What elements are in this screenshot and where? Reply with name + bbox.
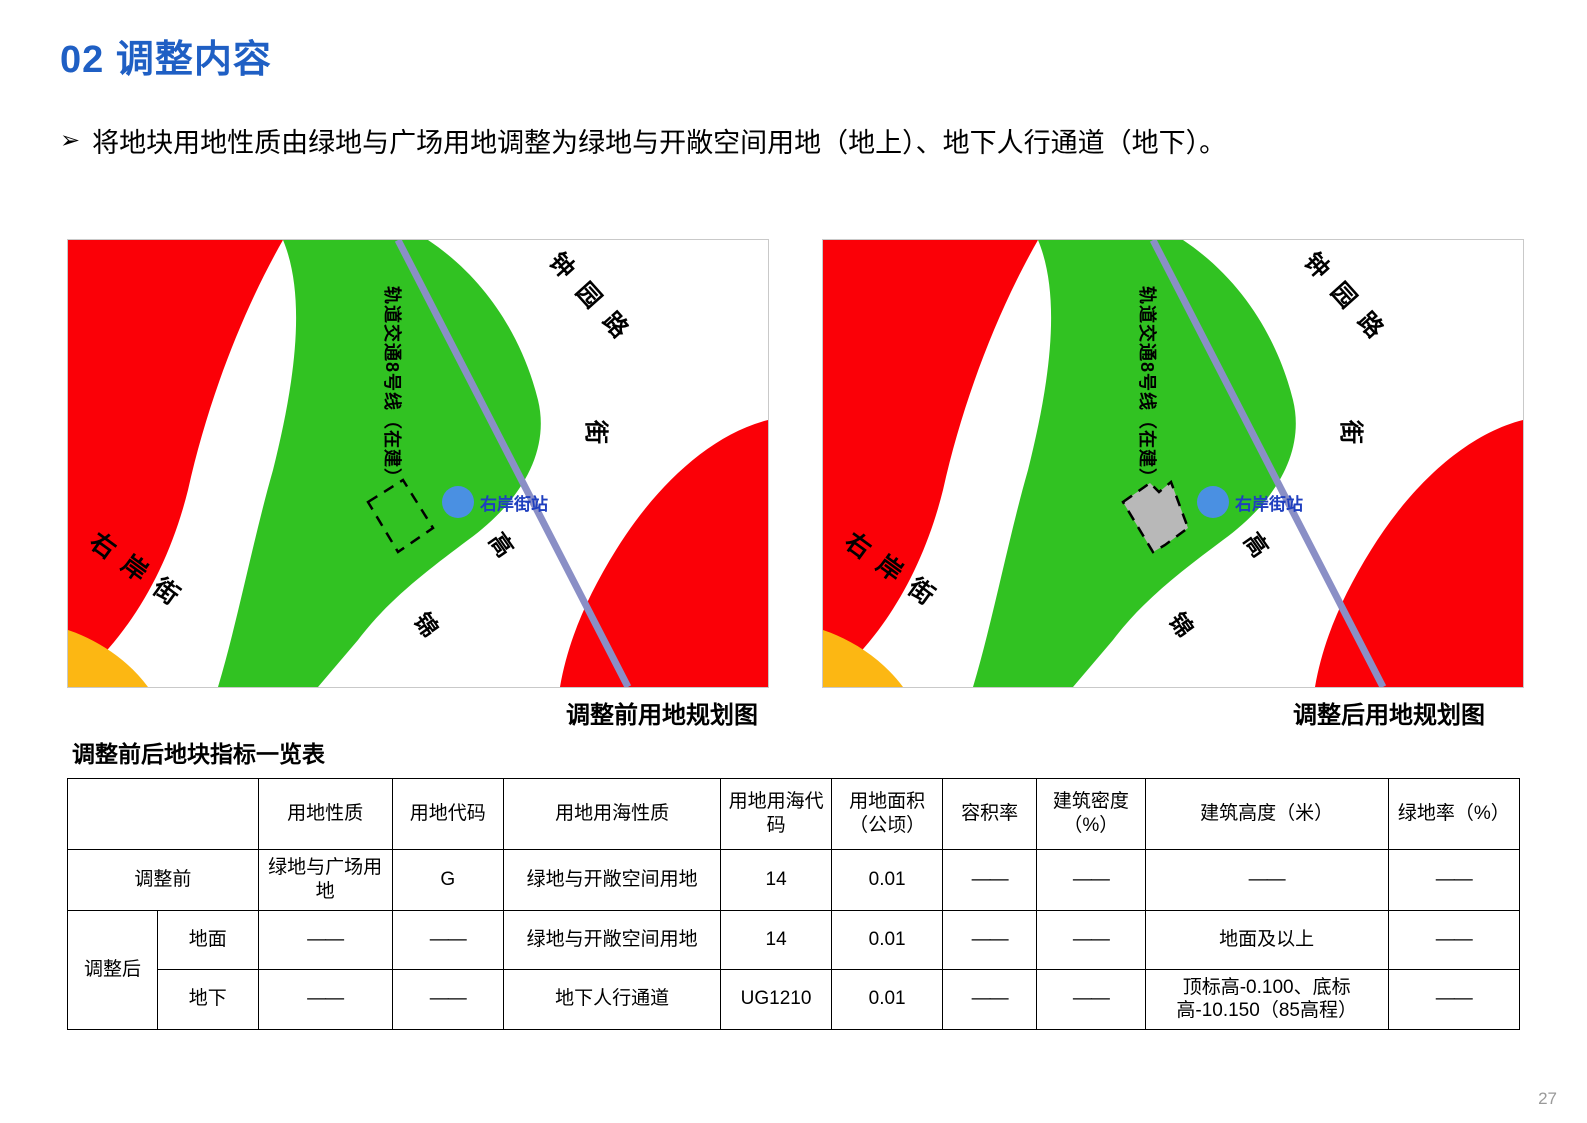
station-dot-icon — [1197, 486, 1229, 518]
header-cell-land-nature: 用地性质 — [258, 779, 392, 850]
header-cell-sea-nature: 用地用海性质 — [503, 779, 720, 850]
cell-under-sea-nature: 地下人行通道 — [503, 969, 720, 1030]
cell-before-far: —— — [943, 850, 1036, 911]
header-cell-land-code: 用地代码 — [392, 779, 503, 850]
map-after-adjustment: 右岸街站 轨道交通8号线（在建） 右岸街 高 锦 街 钟园路 — [822, 239, 1524, 688]
header-cell-far: 容积率 — [943, 779, 1036, 850]
cell-before-land-nature: 绿地与广场用地 — [258, 850, 392, 911]
road-label-jie: 街 — [582, 419, 610, 444]
cell-before-green-rate: —— — [1388, 850, 1519, 911]
header-cell-sea-code: 用地用海代码 — [721, 779, 831, 850]
cell-under-area: 0.01 — [831, 969, 943, 1030]
bullet-row: ➢ 将地块用地性质由绿地与广场用地调整为绿地与开敞空间用地（地上）、地下人行通道… — [60, 124, 1540, 163]
indicator-table: 用地性质 用地代码 用地用海性质 用地用海代码 用地面积（公顷） 容积率 建筑密… — [67, 778, 1520, 1030]
road-label-jie: 街 — [1337, 419, 1365, 444]
row-sublabel-underground: 地下 — [157, 969, 258, 1030]
table-row-after-underground: 地下 —— —— 地下人行通道 UG1210 0.01 —— —— 顶标高-0.… — [68, 969, 1520, 1030]
row-label-after: 调整后 — [68, 910, 158, 1030]
station-label: 右岸街站 — [1235, 494, 1303, 514]
header-cell-height: 建筑高度（米） — [1145, 779, 1388, 850]
map-before-svg: 右岸街站 轨道交通8号线（在建） 右岸街 高 锦 街 钟园路 — [68, 240, 768, 687]
cell-under-height: 顶标高-0.100、底标高-10.150（85高程） — [1145, 969, 1388, 1030]
table-title: 调整前后地块指标一览表 — [72, 735, 325, 769]
page-number: 27 — [1538, 1089, 1557, 1109]
table-row-after-ground: 调整后 地面 —— —— 绿地与开敞空间用地 14 0.01 —— —— 地面及… — [68, 910, 1520, 969]
station-dot-icon — [442, 486, 474, 518]
map-after-caption: 调整后用地规划图 — [1293, 695, 1485, 730]
cell-before-height: —— — [1145, 850, 1388, 911]
cell-before-sea-nature: 绿地与开敞空间用地 — [503, 850, 720, 911]
station-label: 右岸街站 — [480, 494, 548, 514]
table-row-before: 调整前 绿地与广场用地 G 绿地与开敞空间用地 14 0.01 —— —— ——… — [68, 850, 1520, 911]
page-title: 02 调整内容 — [60, 28, 272, 83]
bullet-arrow-icon: ➢ — [60, 124, 80, 159]
cell-under-land-nature: —— — [258, 969, 392, 1030]
cell-ground-sea-code: 14 — [721, 910, 831, 969]
cell-under-land-code: —— — [392, 969, 503, 1030]
cell-before-sea-code: 14 — [721, 850, 831, 911]
header-cell-blank — [68, 779, 259, 850]
cell-before-density: —— — [1036, 850, 1145, 911]
cell-under-sea-code: UG1210 — [721, 969, 831, 1030]
row-sublabel-ground: 地面 — [157, 910, 258, 969]
table-header-row: 用地性质 用地代码 用地用海性质 用地用海代码 用地面积（公顷） 容积率 建筑密… — [68, 779, 1520, 850]
cell-under-far: —— — [943, 969, 1036, 1030]
map-before-adjustment: 右岸街站 轨道交通8号线（在建） 右岸街 高 锦 街 钟园路 — [67, 239, 769, 688]
cell-ground-sea-nature: 绿地与开敞空间用地 — [503, 910, 720, 969]
cell-ground-height: 地面及以上 — [1145, 910, 1388, 969]
cell-before-area: 0.01 — [831, 850, 943, 911]
header-cell-green-rate: 绿地率（%） — [1388, 779, 1519, 850]
cell-ground-density: —— — [1036, 910, 1145, 969]
cell-before-land-code: G — [392, 850, 503, 911]
bullet-text: 将地块用地性质由绿地与广场用地调整为绿地与开敞空间用地（地上）、地下人行通道（地… — [92, 124, 1226, 163]
header-cell-density: 建筑密度（%） — [1036, 779, 1145, 850]
cell-ground-land-nature: —— — [258, 910, 392, 969]
row-label-before: 调整前 — [68, 850, 259, 911]
rail-line-label: 轨道交通8号线（在建） — [1137, 286, 1158, 487]
cell-ground-area: 0.01 — [831, 910, 943, 969]
header-cell-area: 用地面积（公顷） — [831, 779, 943, 850]
cell-ground-far: —— — [943, 910, 1036, 969]
cell-under-green-rate: —— — [1388, 969, 1519, 1030]
rail-line-label: 轨道交通8号线（在建） — [382, 286, 403, 487]
cell-ground-green-rate: —— — [1388, 910, 1519, 969]
cell-under-density: —— — [1036, 969, 1145, 1030]
map-after-svg: 右岸街站 轨道交通8号线（在建） 右岸街 高 锦 街 钟园路 — [823, 240, 1523, 687]
map-before-caption: 调整前用地规划图 — [566, 695, 758, 730]
cell-ground-land-code: —— — [392, 910, 503, 969]
